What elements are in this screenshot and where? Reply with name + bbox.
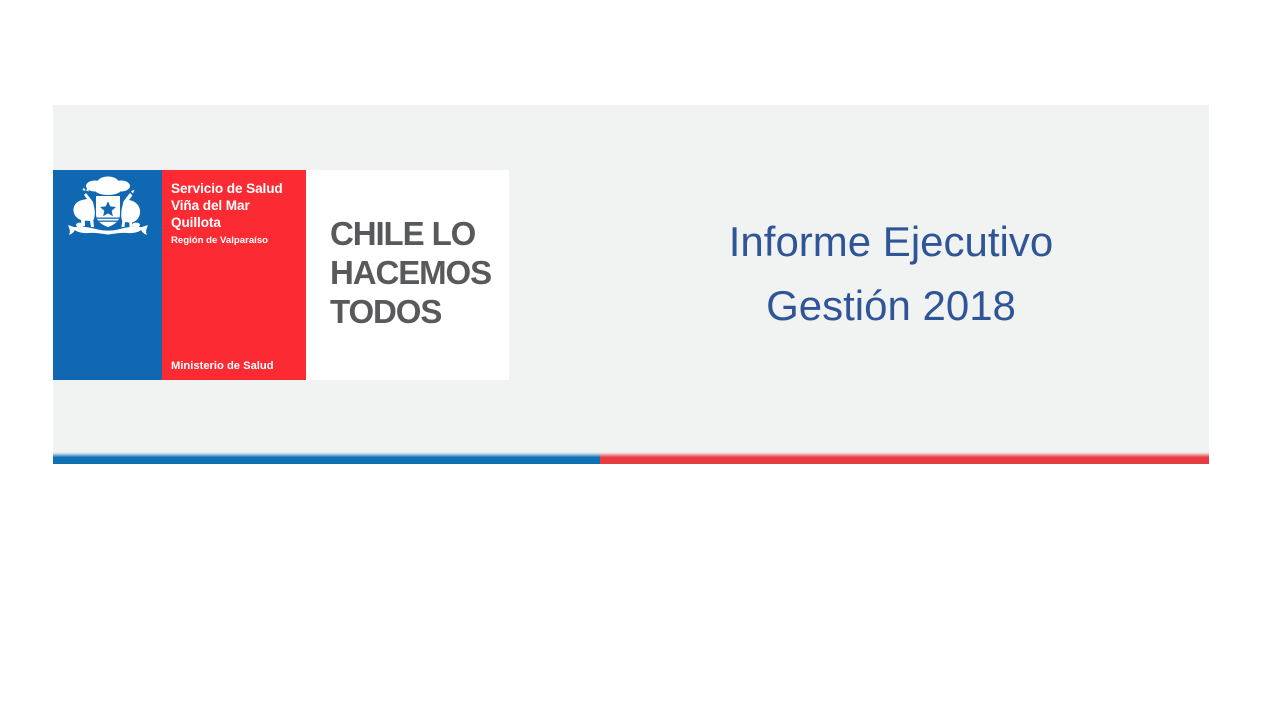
chile-coat-of-arms-icon [60,176,156,242]
accent-stripe-red-segment [600,445,1209,465]
ministry-label: Ministerio de Salud [171,360,274,372]
title-line-1: Informe Ejecutivo [600,210,1182,274]
page-title: Informe Ejecutivo Gestión 2018 [600,210,1182,338]
logo-blue-panel [53,170,162,380]
service-line-3: Quillota [171,214,302,231]
slogan-block: CHILE LO HACEMOS TODOS [330,214,491,331]
region-label: Región de Valparaíso [171,234,302,248]
slide-panel: Servicio de Salud Viña del Mar Quillota … [53,105,1209,453]
service-line-1: Servicio de Salud [171,180,302,197]
slogan-line-1: CHILE LO [330,214,491,253]
logo-red-panel: Servicio de Salud Viña del Mar Quillota … [162,170,306,380]
slogan-line-2: HACEMOS [330,253,491,292]
title-line-2: Gestión 2018 [600,274,1182,338]
accent-stripe [53,445,1209,465]
ministry-logo: Servicio de Salud Viña del Mar Quillota … [53,170,509,380]
logo-white-panel: CHILE LO HACEMOS TODOS [306,170,509,380]
service-name-block: Servicio de Salud Viña del Mar Quillota … [171,180,302,248]
service-line-2: Viña del Mar [171,197,302,214]
accent-stripe-blue-segment [53,445,600,465]
slogan-line-3: TODOS [330,292,491,331]
